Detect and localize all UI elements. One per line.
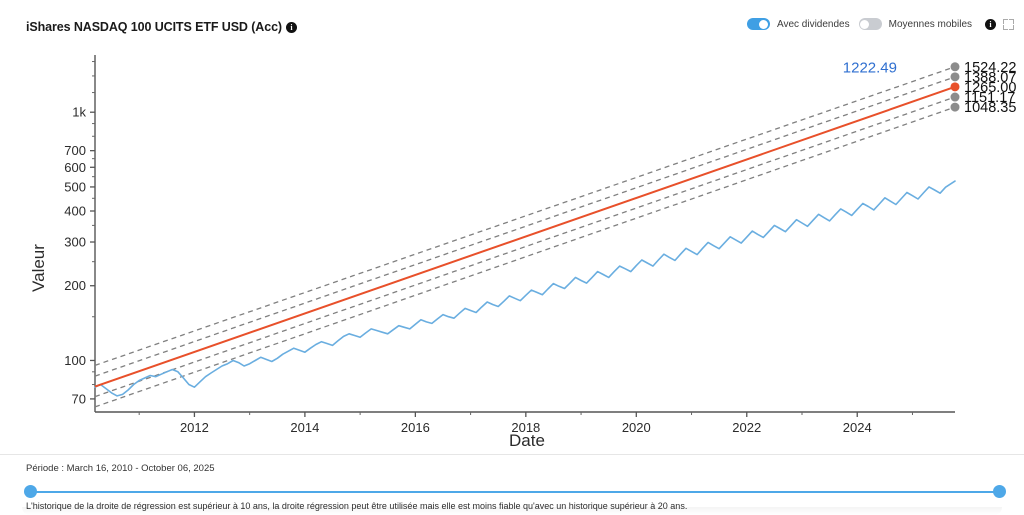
x-tick-label: 2022: [732, 420, 761, 435]
band-value-labels: 1524.221388.071265.001151.171048.35: [964, 60, 1016, 116]
toggle-avec-dividendes[interactable]: [747, 18, 770, 30]
page-title: iShares NASDAQ 100 UCITS ETF USD (Acc)i: [26, 20, 297, 34]
slider-handle-start[interactable]: [24, 485, 37, 498]
current-price-label: 1222.49: [843, 60, 897, 77]
footer-shadow: [22, 507, 1002, 515]
y-tick-label: 1k: [72, 105, 86, 120]
corner-bracket: [1003, 25, 1008, 30]
header-controls: Avec dividendes Moyennes mobiles i: [747, 18, 1014, 30]
chart-area[interactable]: 701002003004005006007001k 20122014201620…: [0, 40, 1024, 455]
channel-band-line: [95, 97, 955, 397]
price-series-line: [95, 181, 955, 396]
period-label: Période : March 16, 2010 - October 06, 2…: [26, 463, 215, 474]
band-endpoint-dot: [951, 93, 960, 102]
x-tick-label: 2020: [622, 420, 651, 435]
corner-bracket: [1009, 19, 1014, 24]
moving-averages-info-icon[interactable]: i: [985, 19, 996, 30]
channel-band-line: [95, 77, 955, 376]
chart-footer: Période : March 16, 2010 - October 06, 2…: [0, 454, 1024, 515]
toggle-knob: [759, 20, 768, 29]
y-tick-label: 200: [64, 278, 86, 293]
x-tick-label: 2024: [843, 420, 872, 435]
band-value-label: 1048.35: [964, 100, 1016, 116]
slider-handle-end[interactable]: [993, 485, 1006, 498]
corner-bracket: [1003, 19, 1008, 24]
band-endpoint-dot: [951, 72, 960, 81]
regression-chart-svg[interactable]: 701002003004005006007001k 20122014201620…: [0, 40, 1024, 455]
toggle-avec-dividendes-label: Avec dividendes: [777, 19, 850, 30]
y-tick-label: 700: [64, 143, 86, 158]
corner-bracket: [1009, 25, 1014, 30]
page-title-text: iShares NASDAQ 100 UCITS ETF USD (Acc): [26, 20, 282, 34]
regression-line: [95, 87, 955, 387]
fullscreen-expand-icon[interactable]: [1003, 19, 1014, 30]
y-tick-label: 500: [64, 179, 86, 194]
chart-header: iShares NASDAQ 100 UCITS ETF USD (Acc)i …: [0, 0, 1024, 44]
toggle-knob: [860, 20, 869, 29]
toggle-moyennes-mobiles[interactable]: [859, 18, 882, 30]
x-tick-label: 2012: [180, 420, 209, 435]
y-axis-title: Valeur: [29, 244, 48, 292]
y-tick-label: 70: [72, 391, 86, 406]
slider-rail[interactable]: [30, 491, 1000, 493]
toggle-moyennes-mobiles-label: Moyennes mobiles: [889, 19, 972, 30]
x-axis-title: Date: [509, 431, 545, 450]
y-tick-label: 100: [64, 353, 86, 368]
y-tick-label: 300: [64, 235, 86, 250]
channel-band-line: [95, 107, 955, 407]
band-endpoint-dot: [951, 62, 960, 71]
x-tick-label: 2016: [401, 420, 430, 435]
period-range-slider[interactable]: [30, 485, 1000, 499]
y-axis-ticks: 701002003004005006007001k: [64, 62, 95, 407]
band-endpoint-dot: [951, 103, 960, 112]
info-icon[interactable]: i: [286, 22, 297, 33]
regression-endpoint-dot: [951, 82, 960, 91]
chart-axes: [95, 55, 955, 412]
regression-chart-app: iShares NASDAQ 100 UCITS ETF USD (Acc)i …: [0, 0, 1024, 515]
channel-band-line: [95, 67, 955, 366]
y-tick-label: 400: [64, 203, 86, 218]
y-tick-label: 600: [64, 160, 86, 175]
x-tick-label: 2014: [290, 420, 319, 435]
